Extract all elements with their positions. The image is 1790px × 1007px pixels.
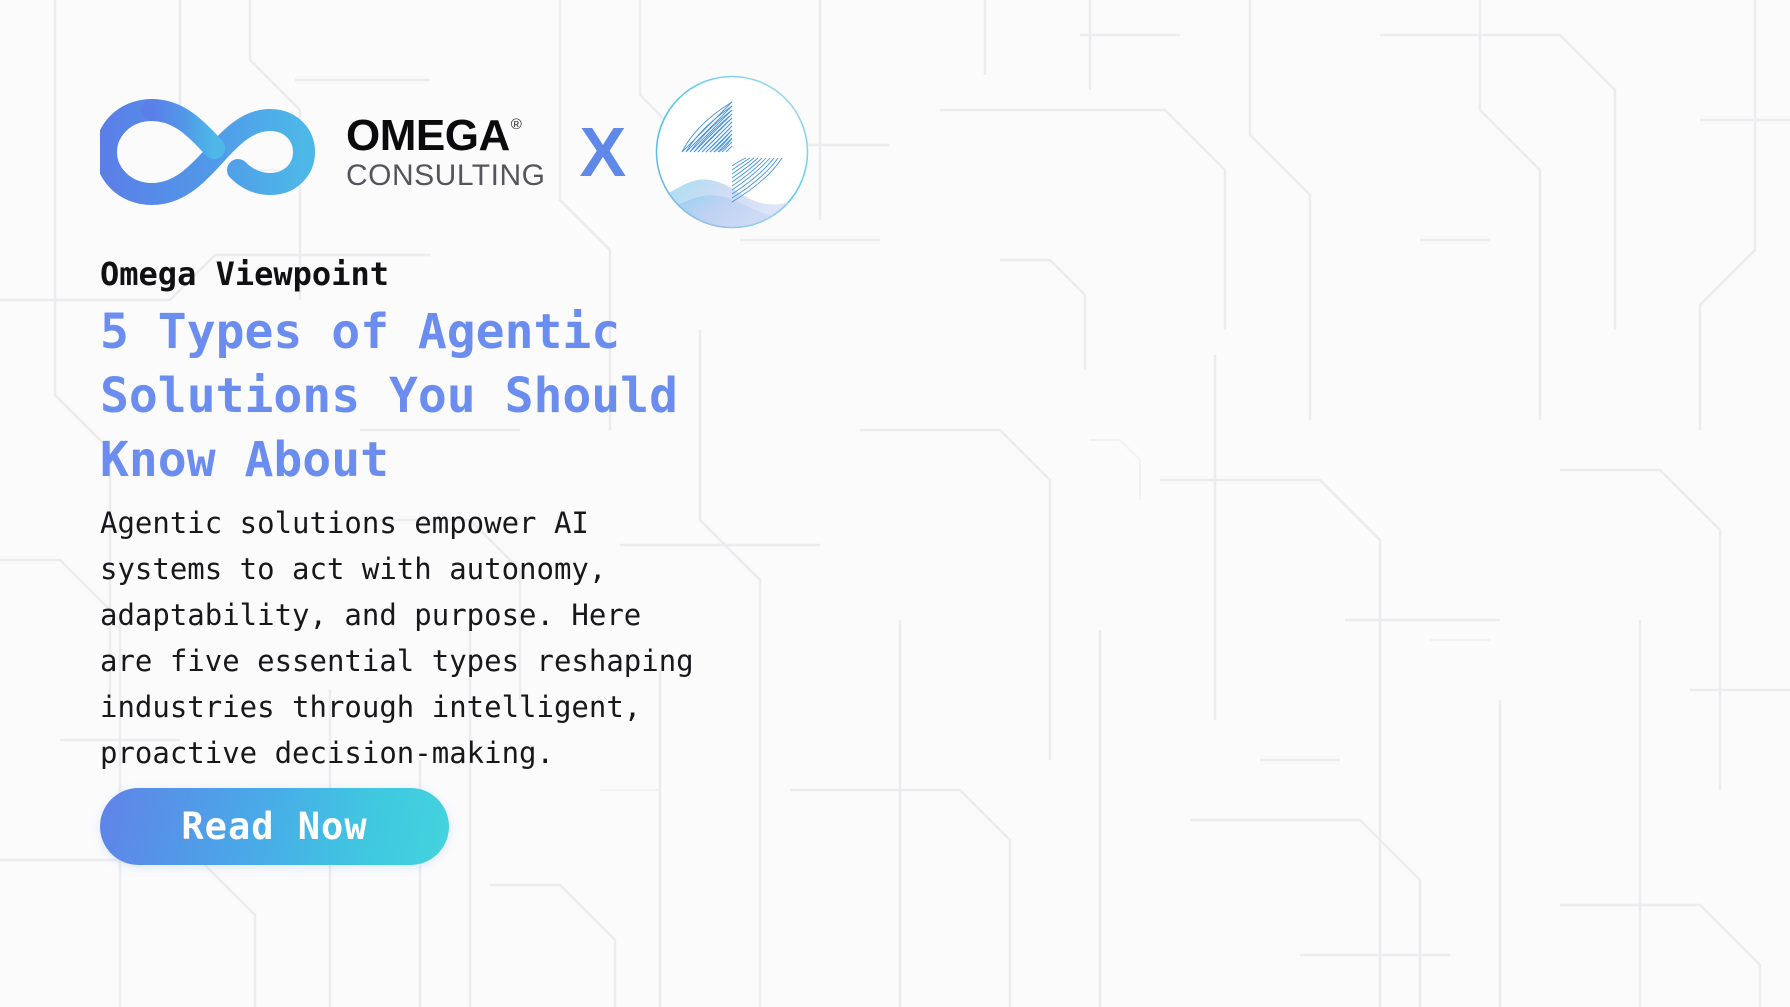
partner-circle-logo-icon: [652, 72, 812, 232]
brand-logo-row: OMEGA® CONSULTING X: [100, 88, 812, 216]
read-now-button[interactable]: Read Now: [100, 788, 449, 865]
article-description: Agentic solutions empower AI systems to …: [100, 500, 820, 776]
page-title: 5 Types of Agentic Solutions You Should …: [100, 300, 820, 492]
collaboration-separator-x: X: [579, 117, 626, 187]
omega-word-line: OMEGA®: [346, 114, 545, 158]
registered-trademark-icon: ®: [511, 116, 522, 133]
omega-wordmark: OMEGA® CONSULTING: [346, 114, 545, 191]
omega-word-text: OMEGA: [346, 114, 510, 158]
omega-subword-text: CONSULTING: [346, 161, 545, 191]
infinity-logo-icon: [100, 96, 328, 208]
content-column: OMEGA® CONSULTING X: [100, 0, 920, 1007]
promo-card: OMEGA® CONSULTING X: [0, 0, 1790, 1007]
page-eyebrow: Omega Viewpoint: [100, 255, 389, 293]
